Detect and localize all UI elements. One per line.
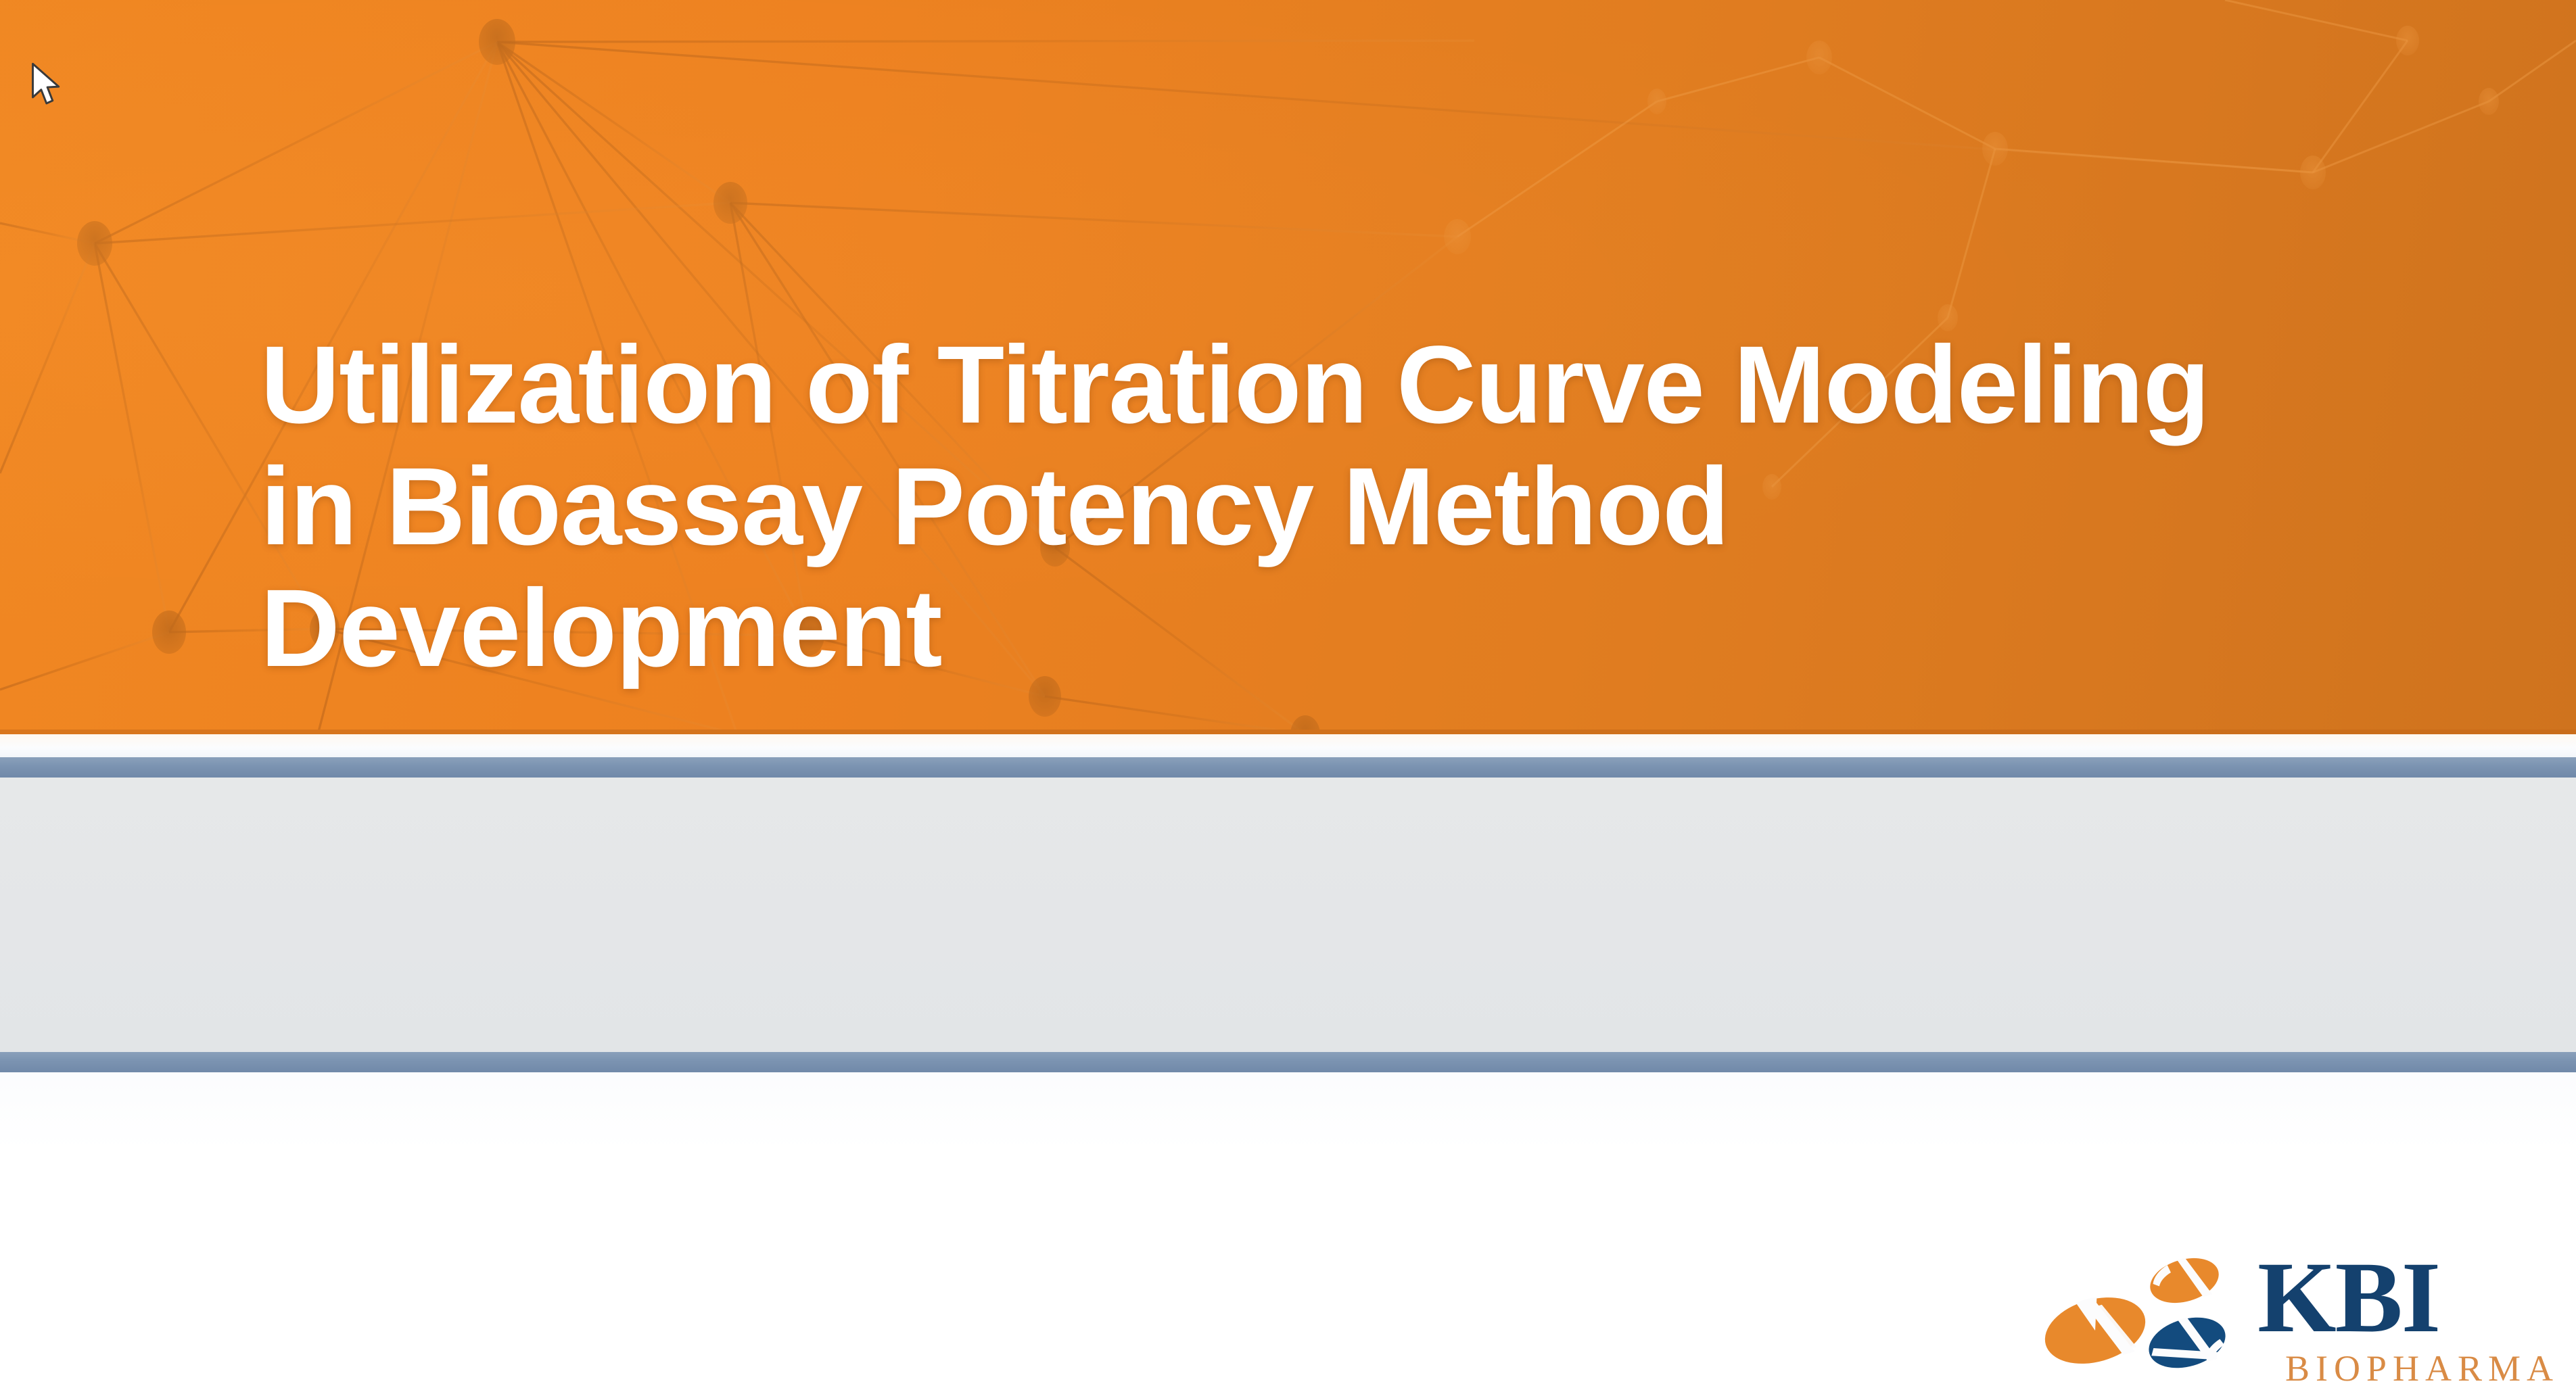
hero-band-gap — [0, 734, 2576, 757]
page-title: Utilization of Titration Curve Modeling … — [260, 324, 2323, 689]
logo-tagline-text: BIOPHARMA — [2257, 1349, 2562, 1386]
molecule-marks-icon — [2042, 1249, 2245, 1378]
hero-bottom-edge — [0, 730, 2576, 734]
divider-bar-top — [0, 757, 2576, 778]
logo-kbi-text: KBI — [2257, 1247, 2562, 1348]
presenter-band: Pete Broglie, Ph.D., Cell Based Assay Gr… — [0, 778, 2576, 1052]
divider-bar-bottom — [0, 1052, 2576, 1072]
logo-wordmark: KBI BIOPHARMA — [2257, 1247, 2562, 1382]
presentation-slide: Utilization of Titration Curve Modeling … — [0, 0, 2576, 1386]
title-banner: Utilization of Titration Curve Modeling … — [0, 0, 2576, 734]
kbi-biopharma-logo: KBI BIOPHARMA — [2042, 1249, 2556, 1385]
